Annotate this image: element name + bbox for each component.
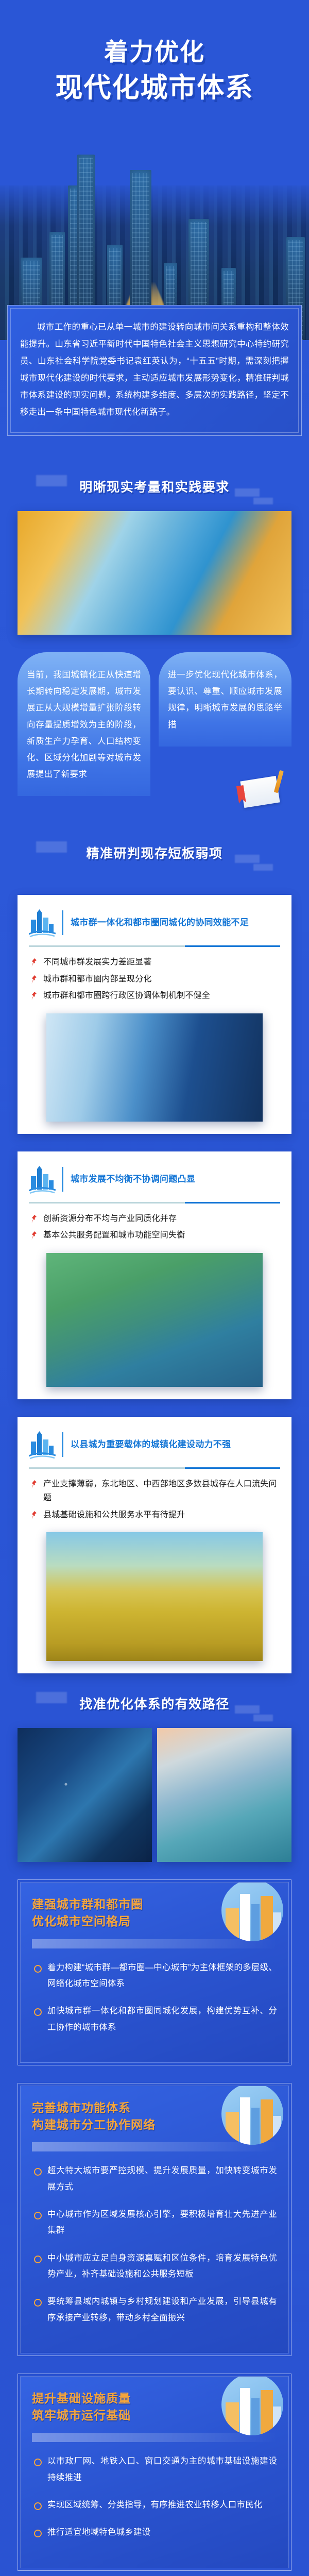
city-illustration-icon	[221, 1882, 283, 1941]
list-item: 加快城市群一体化和都市圈同城化发展，构建优势互补、分工协作的城市体系	[32, 2003, 277, 2036]
list-item: 中小城市应立足自身资源禀赋和区位条件，培育发展特色优势产业，补齐基础设施和公共服…	[32, 2250, 277, 2283]
bullet-text: 城市群和都市圈跨行政区协调体制机制不健全	[43, 991, 210, 1000]
buildings-icon	[29, 1430, 56, 1459]
path-block-title: 提升基础设施质量 筑牢城市运行基础	[32, 2390, 213, 2424]
heading-block-decor	[253, 498, 273, 504]
list-item: 创新资源分布不均与产业同质化并存	[29, 1212, 280, 1226]
card-divider	[62, 910, 63, 935]
photo-rice-field	[46, 1532, 263, 1661]
card-bullet-list: 创新资源分布不均与产业同质化并存 基本公共服务配置和城市功能空间失衡	[29, 1212, 280, 1243]
callout-row: 当前，我国城镇化正从快速增长期转向稳定发展期，城市发展正从大规模增量扩张阶段转向…	[18, 652, 291, 796]
heading-block-decor	[235, 855, 260, 863]
shortcoming-card: 城市发展不均衡不协调问题凸显 创新资源分布不均与产业同质化并存 基本公共服务配置…	[18, 1151, 291, 1399]
title-line-1: 着力优化	[0, 37, 309, 67]
list-item: 要统筹县域内城镇与乡村规划建设和产业发展，引导县城有序承接产业转移，带动乡村全面…	[32, 2294, 277, 2326]
shortcoming-card: 城市群一体化和都市圈同城化的协同效能不足 不同城市群发展实力差距显著 城市群和都…	[18, 895, 291, 1134]
path-point-list: 着力构建“城市群—都市圈—中心城市”为主体框架的多层级、网络化城市空间体系 加快…	[32, 1960, 277, 2036]
path-title-line-2: 构建城市分工协作网络	[32, 2118, 156, 2131]
path-title-line-2: 筑牢城市运行基础	[32, 2409, 131, 2422]
path-title-line-2: 优化城市空间格局	[32, 1914, 131, 1928]
photo-glass-towers	[18, 511, 291, 635]
section-heading-3-text: 找准优化体系的有效路径	[79, 1694, 230, 1713]
section-heading-2: 精准研判现存短板弱项	[0, 823, 309, 877]
path-block-inner: 完善城市功能体系 构建城市分工协作网络 超大特大城市要严控规模、提升发展质量，加…	[20, 2086, 289, 2353]
path-block-title: 建强城市群和都市圈 优化城市空间格局	[32, 1896, 213, 1929]
list-item: 中心城市作为区域发展核心引擎，要积极培育壮大先进产业集群	[32, 2207, 277, 2239]
photo-smart-network	[18, 1728, 152, 1862]
path-point-list: 超大特大城市要严控规模、提升发展质量，加快转变城市发展方式 中心城市作为区域发展…	[32, 2163, 277, 2326]
pushpin-icon	[31, 1214, 37, 1223]
photo-metro-train	[46, 1013, 263, 1122]
infographic-poster: 着力优化 现代化城市体系 城市工作的重心已从单一城市的建设转向城市间关系重构和整…	[0, 0, 309, 2576]
card-rule	[29, 945, 280, 947]
card-title: 城市群一体化和都市圈同城化的协同效能不足	[71, 916, 249, 929]
pushpin-icon	[31, 991, 37, 1000]
pushpin-icon	[31, 1480, 37, 1488]
city-illustration-icon	[221, 2086, 283, 2145]
path-title-line-1: 完善城市功能体系	[32, 2101, 131, 2114]
list-item: 城市群和都市圈内部呈现分化	[29, 972, 280, 987]
heading-block-decor	[235, 1705, 260, 1714]
list-item: 以市政厂网、地铁入口、窗口交通为主的城市基础设施建设持续推进	[32, 2453, 277, 2486]
card-bullet-list: 不同城市群发展实力差距显著 城市群和都市圈内部呈现分化 城市群和都市圈跨行政区协…	[29, 955, 280, 1003]
list-item: 着力构建“城市群—都市圈—中心城市”为主体框架的多层级、网络化城市空间体系	[32, 1960, 277, 1992]
open-book-icon	[240, 776, 280, 808]
callout-left-text: 当前，我国城镇化正从快速增长期转向稳定发展期，城市发展正从大规模增量扩张阶段转向…	[27, 667, 141, 783]
heading-block-decor	[36, 1692, 67, 1703]
pushpin-icon	[31, 958, 37, 967]
list-item: 基本公共服务配置和城市功能空间失衡	[29, 1228, 280, 1243]
buildings-icon	[29, 1165, 56, 1194]
section-heading-3: 找准优化体系的有效路径	[0, 1673, 309, 1728]
list-item: 推行适宜地域特色城乡建设	[32, 2524, 277, 2540]
intro-panel-inner: 城市工作的重心已从单一城市的建设转向城市间关系重构和整体效能提升。山东省习近平新…	[10, 308, 299, 433]
card-divider	[62, 1432, 63, 1457]
card-rule	[29, 1467, 280, 1469]
intro-paragraph: 城市工作的重心已从单一城市的建设转向城市间关系重构和整体效能提升。山东省习近平新…	[20, 319, 289, 421]
bullet-text: 基本公共服务配置和城市功能空间失衡	[43, 1231, 185, 1240]
path-block-inner: 提升基础设施质量 筑牢城市运行基础 以市政厂网、地铁入口、窗口交通为主的城市基础…	[20, 2376, 289, 2568]
card-divider	[62, 1167, 63, 1192]
photo-urban-park	[46, 1253, 263, 1387]
bullet-text: 创新资源分布不均与产业同质化并存	[43, 1214, 177, 1223]
path-block: 建强城市群和都市圈 优化城市空间格局 着力构建“城市群—都市圈—中心城市”为主体…	[18, 1879, 291, 2065]
bullet-text: 县城基础设施和公共服务水平有待提升	[43, 1511, 185, 1519]
heading-block-decor	[36, 841, 67, 853]
path-title-line-1: 建强城市群和都市圈	[32, 1897, 143, 1911]
list-item: 县城基础设施和公共服务水平有待提升	[29, 1508, 280, 1522]
callout-card-right: 进一步优化现代化城市体系，要认识、尊重、顺应城市发展规律，明晰城市发展的思路举措	[159, 652, 291, 747]
heading-block-decor	[36, 475, 67, 486]
shortcoming-card: 以县城为重要载体的城镇化建设动力不强 产业支撑薄弱，东北地区、中西部地区多数县城…	[18, 1417, 291, 1674]
card-title: 城市发展不均衡不协调问题凸显	[71, 1173, 195, 1186]
section-heading-1: 明晰现实考量和实践要求	[0, 456, 309, 511]
path-block-title: 完善城市功能体系 构建城市分工协作网络	[32, 2099, 213, 2133]
section-heading-1-text: 明晰现实考量和实践要求	[79, 477, 230, 496]
list-item: 实现区域统筹、分类指导，有序推进农业转移人口市民化	[32, 2497, 277, 2513]
path-title-line-1: 提升基础设施质量	[32, 2392, 131, 2405]
card-title: 以县城为重要载体的城镇化建设动力不强	[71, 1438, 231, 1451]
open-book-icon-wrap	[18, 796, 291, 823]
intro-panel: 城市工作的重心已从单一城市的建设转向城市间关系重构和整体效能提升。山东省习近平新…	[7, 305, 302, 436]
intro-section: 城市工作的重心已从单一城市的建设转向城市间关系重构和整体效能提升。山东省习近平新…	[0, 305, 309, 456]
card-rule	[29, 1202, 280, 1204]
list-item: 产业支撑薄弱，东北地区、中西部地区多数县城存在人口流失问题	[29, 1477, 280, 1505]
pushpin-icon	[31, 1511, 37, 1519]
section-heading-2-text: 精准研判现存短板弱项	[86, 843, 222, 862]
callout-card-left: 当前，我国城镇化正从快速增长期转向稳定发展期，城市发展正从大规模增量扩张阶段转向…	[18, 652, 150, 796]
path-block: 完善城市功能体系 构建城市分工协作网络 超大特大城市要严控规模、提升发展质量，加…	[18, 2083, 291, 2356]
bullet-text: 不同城市群发展实力差距显著	[43, 958, 152, 967]
card-header: 城市群一体化和都市圈同城化的协同效能不足	[29, 908, 280, 937]
card-bullet-list: 产业支撑薄弱，东北地区、中西部地区多数县城存在人口流失问题 县城基础设施和公共服…	[29, 1477, 280, 1522]
city-illustration-icon	[221, 2376, 283, 2435]
list-item: 超大特大城市要严控规模、提升发展质量，加快转变城市发展方式	[32, 2163, 277, 2195]
bullet-text: 城市群和都市圈内部呈现分化	[43, 975, 152, 984]
hero-section: 着力优化 现代化城市体系	[0, 0, 309, 340]
heading-block-decor	[235, 488, 260, 497]
heading-block-decor	[253, 1715, 273, 1721]
bullet-text: 产业支撑薄弱，东北地区、中西部地区多数县城存在人口流失问题	[43, 1480, 277, 1503]
list-item: 不同城市群发展实力差距显著	[29, 955, 280, 970]
path-block-inner: 建强城市群和都市圈 优化城市空间格局 着力构建“城市群—都市圈—中心城市”为主体…	[20, 1882, 289, 2063]
buildings-icon	[29, 908, 56, 937]
callout-right-text: 进一步优化现代化城市体系，要认识、尊重、顺应城市发展规律，明晰城市发展的思路举措	[168, 667, 282, 733]
card-header: 城市发展不均衡不协调问题凸显	[29, 1165, 280, 1194]
path-point-list: 以市政厂网、地铁入口、窗口交通为主的城市基础设施建设持续推进 实现区域统筹、分类…	[32, 2453, 277, 2540]
pushpin-icon	[31, 1231, 37, 1240]
path-block: 提升基础设施质量 筑牢城市运行基础 以市政厂网、地铁入口、窗口交通为主的城市基础…	[18, 2374, 291, 2571]
pushpin-icon	[31, 975, 37, 984]
card-header: 以县城为重要载体的城镇化建设动力不强	[29, 1430, 280, 1459]
page-title: 着力优化 现代化城市体系	[0, 0, 309, 106]
photo-pair-row	[18, 1728, 291, 1862]
list-item: 城市群和都市圈跨行政区协调体制机制不健全	[29, 989, 280, 1003]
title-line-2: 现代化城市体系	[0, 71, 309, 106]
heading-block-decor	[253, 864, 273, 871]
photo-smart-city	[157, 1728, 291, 1862]
